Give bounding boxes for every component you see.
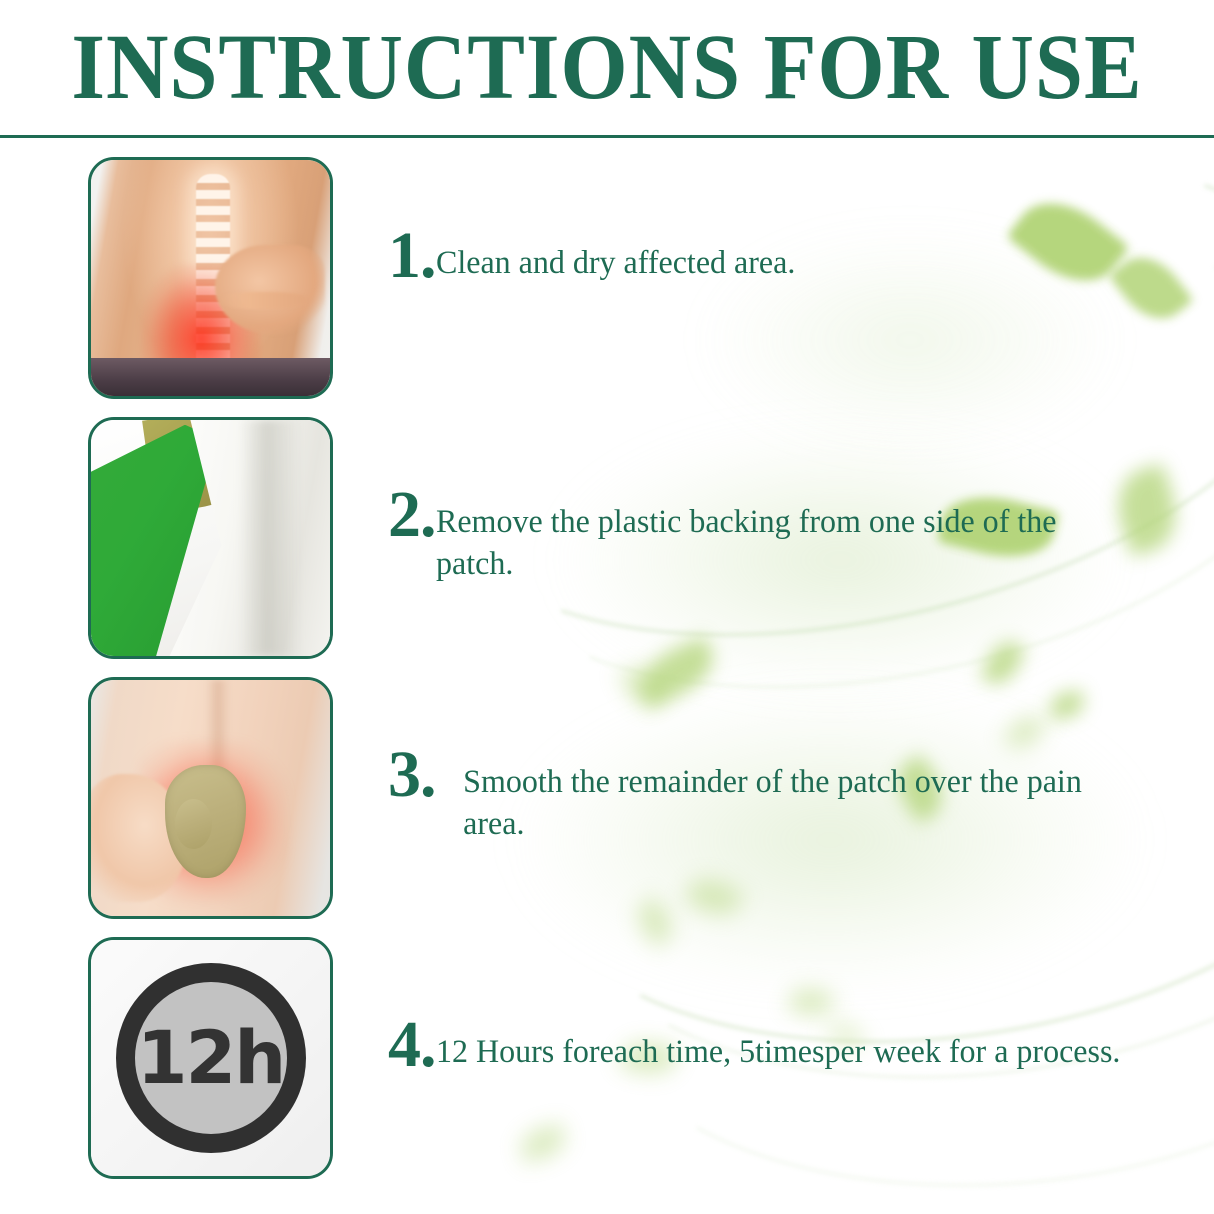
leaf-icon: [1108, 244, 1193, 333]
instruction-step-4: 4. 12 Hours foreach time, 5timesper week…: [388, 1017, 1141, 1073]
clock-ring-icon: 12h: [116, 963, 306, 1153]
step-number: 1.: [388, 228, 436, 284]
instruction-step-2: 2. Remove the plastic backing from one s…: [388, 487, 1126, 585]
step-image-4: 12h: [88, 937, 333, 1179]
page-title: INSTRUCTIONS FOR USE: [42, 18, 1171, 118]
lower-back-pain-spine-photo: [91, 160, 330, 396]
duration-label: 12h: [137, 1022, 285, 1095]
page-header: INSTRUCTIONS FOR USE: [0, 0, 1214, 137]
leaf-icon: [629, 896, 680, 949]
patch-applied-to-back-photo: [91, 680, 330, 916]
step-number: 2.: [388, 487, 436, 543]
step-image-2: [88, 417, 333, 659]
peeling-green-backing-photo: [91, 420, 330, 656]
leaf-icon: [618, 661, 665, 714]
instruction-step-3: 3. Smooth the remainder of the patch ove…: [388, 747, 1154, 845]
instruction-step-1: 1. Clean and dry affected area.: [388, 228, 806, 284]
header-divider: [0, 135, 1214, 138]
swirl-line: [391, 77, 1214, 719]
leaf-icon: [980, 636, 1026, 690]
leaf-icon: [632, 636, 723, 709]
leaf-icon: [1006, 183, 1130, 301]
step-text: Remove the plastic backing from one side…: [436, 487, 1105, 585]
leaf-icon: [1049, 690, 1086, 719]
instructions-page: INSTRUCTIONS FOR USE: [0, 0, 1214, 1214]
step-number: 3.: [388, 747, 436, 803]
leaf-icon: [517, 1123, 569, 1163]
step-number: 4.: [388, 1017, 436, 1073]
fingers-shape: [220, 292, 306, 309]
step-text: Smooth the remainder of the patch over t…: [436, 747, 1132, 845]
leaf-icon: [683, 870, 745, 924]
waistband: [91, 358, 330, 396]
patch-crease-shadow: [239, 420, 301, 656]
step-image-1: [88, 157, 333, 399]
step-text: 12 Hours foreach time, 5timesper week fo…: [436, 1017, 1120, 1073]
twelve-hour-duration-badge: 12h: [91, 940, 330, 1176]
leaf-icon: [787, 982, 836, 1022]
step-image-3: [88, 677, 333, 919]
step-text: Clean and dry affected area.: [436, 228, 795, 284]
